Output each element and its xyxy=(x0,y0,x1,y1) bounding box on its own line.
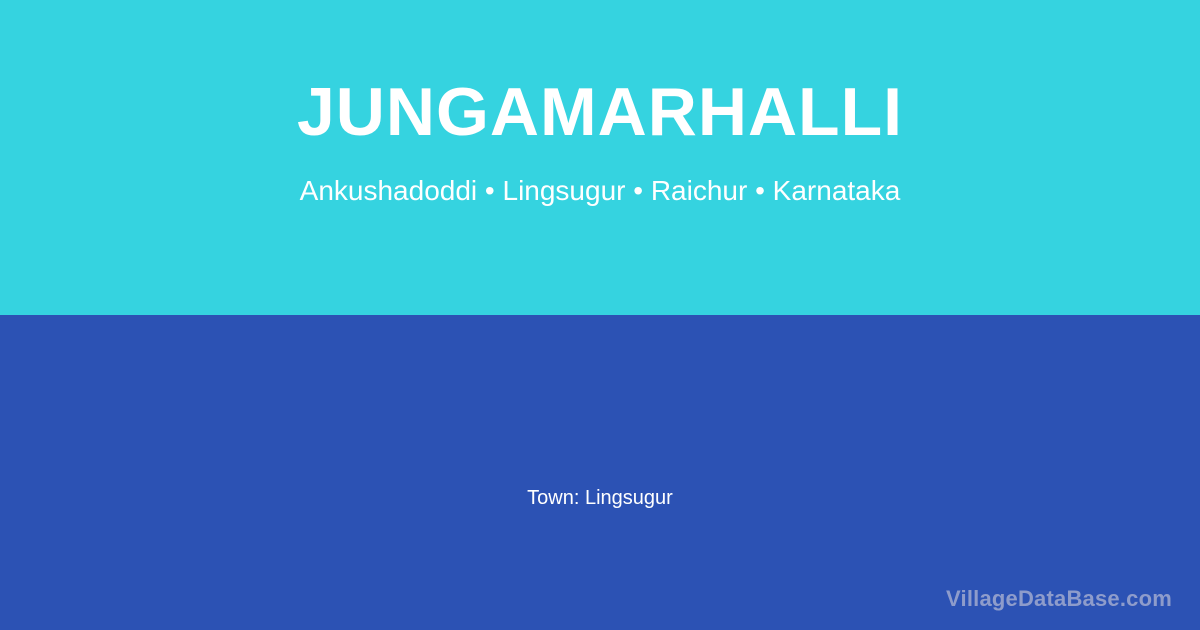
detail-panel: Town: Lingsugur xyxy=(0,315,1200,630)
town-detail: Town: Lingsugur xyxy=(0,487,1200,510)
page-title: JUNGAMARHALLI xyxy=(297,78,903,146)
hero-banner: JUNGAMARHALLI Ankushadoddi • Lingsugur •… xyxy=(0,0,1200,315)
breadcrumb: Ankushadoddi • Lingsugur • Raichur • Kar… xyxy=(300,176,901,207)
site-watermark: VillageDataBase.com xyxy=(946,586,1172,612)
village-info-card: JUNGAMARHALLI Ankushadoddi • Lingsugur •… xyxy=(0,0,1200,630)
